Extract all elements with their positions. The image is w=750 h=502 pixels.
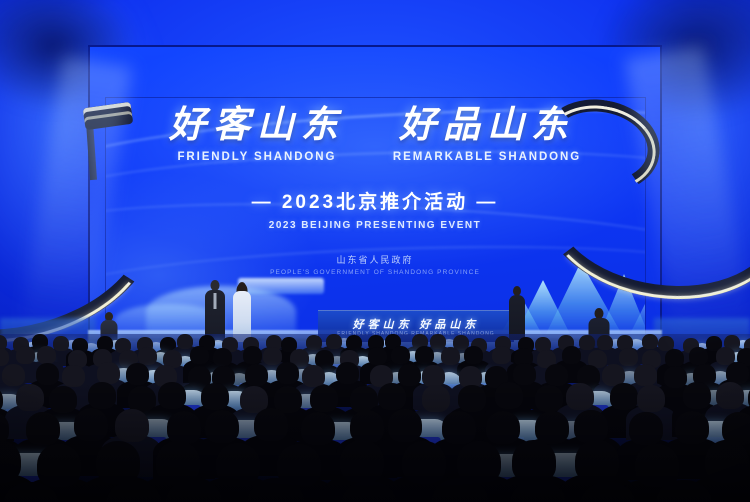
audience-member-head <box>422 365 445 387</box>
audience-member-head <box>346 335 362 350</box>
audience-member-head <box>368 347 387 365</box>
audience-member-head <box>492 346 511 364</box>
audience-member-head <box>306 335 322 350</box>
audience-member-head <box>562 346 581 364</box>
audience-member-head <box>205 410 239 443</box>
audience-member-head <box>2 364 25 386</box>
podium-text-cn: 好客山东 好品山东 <box>318 316 514 332</box>
audience-member-head <box>579 335 595 350</box>
event-subtitle-cn: — 2023北京推介活动 — <box>90 187 660 214</box>
led-screen: 好客山东 FRIENDLY SHANDONG 好品山东 REMARKABLE S… <box>88 45 662 341</box>
audience-member-head <box>16 346 35 364</box>
title-right-en: REMARKABLE SHANDONG <box>393 151 581 163</box>
audience-member-head <box>115 409 149 442</box>
audience-member-head <box>62 365 85 387</box>
audience-member-head <box>350 410 384 443</box>
audience-member-head <box>37 444 81 487</box>
title-left-en: FRIENDLY SHANDONG <box>178 151 337 163</box>
audience-member-head <box>378 383 406 410</box>
audience-member-head <box>610 383 638 410</box>
audience-member-head <box>16 384 44 411</box>
audience-member-head <box>422 385 450 412</box>
audience-member-head <box>336 362 359 384</box>
led-screen-copy: 好客山东 FRIENDLY SHANDONG 好品山东 REMARKABLE S… <box>90 107 660 276</box>
audience-member-head <box>574 410 608 443</box>
audience-member-head <box>513 363 536 385</box>
audience-member-head <box>177 334 193 349</box>
audience-member-head <box>37 346 56 364</box>
title-left-cn: 好客山东 <box>169 107 345 146</box>
audience-member-head <box>442 411 476 444</box>
audience-member-head <box>430 334 446 349</box>
audience-member-head <box>301 412 335 445</box>
audience-member-head <box>535 411 569 444</box>
audience-member-head <box>126 363 149 385</box>
audience-member-head <box>213 348 232 366</box>
audience-member-head <box>201 383 229 410</box>
audience-member-head <box>53 336 69 351</box>
audience-member-head <box>190 346 209 364</box>
audience-member-head <box>402 441 446 484</box>
audience-member-head <box>566 383 594 410</box>
audience-member-head <box>512 440 556 483</box>
shirt <box>214 293 217 309</box>
person-host-female <box>232 282 252 342</box>
audience-member-head <box>36 363 59 385</box>
audience-member-head <box>683 382 711 409</box>
audience-member-head <box>96 441 140 484</box>
audience-member-head <box>243 346 262 364</box>
audience-member-head <box>458 385 486 412</box>
audience-member-head <box>326 334 342 349</box>
title-block-left: 好客山东 FRIENDLY SHANDONG <box>169 107 345 163</box>
audience-member-head <box>464 346 483 364</box>
title-row: 好客山东 FRIENDLY SHANDONG 好品山东 REMARKABLE S… <box>90 107 660 163</box>
audience-member-head <box>138 347 157 365</box>
person-host-male <box>204 280 226 342</box>
audience-member-head <box>88 382 116 409</box>
audience-member-head <box>302 365 325 387</box>
audience-member-head <box>254 408 288 441</box>
audience-member-head <box>629 412 663 445</box>
audience-member-head <box>637 385 665 412</box>
audience-member-head <box>74 408 108 441</box>
audience-member-head <box>340 440 384 483</box>
audience-member-head <box>415 346 434 364</box>
organizer-en: PEOPLE'S GOVERNMENT OF SHANDONG PROVINCE <box>90 269 660 276</box>
title-right-cn: 好品山东 <box>399 107 575 146</box>
audience-member-head <box>158 382 186 409</box>
audience-member-head <box>664 366 687 388</box>
organizer-cn: 山东省人民政府 <box>90 253 660 266</box>
title-block-right: 好品山东 REMARKABLE SHANDONG <box>393 107 581 163</box>
audience-member-head <box>575 440 619 483</box>
audience-member-head <box>391 346 410 364</box>
audience-member-head <box>665 349 684 367</box>
audience <box>0 334 750 502</box>
audience-member-head <box>619 348 638 366</box>
audience-member-head <box>689 347 708 365</box>
audience-member-head <box>486 411 520 444</box>
audience-member-head <box>156 441 200 484</box>
audience-member-head <box>597 335 613 350</box>
audience-member-head <box>167 411 201 444</box>
person-speaker <box>508 286 526 340</box>
audience-member-head <box>263 347 282 365</box>
audience-member-head <box>245 364 268 386</box>
stage-photo: 好客山东 FRIENDLY SHANDONG 好品山东 REMARKABLE S… <box>0 0 750 502</box>
audience-member-head <box>49 386 77 413</box>
audience-member-head <box>634 364 657 386</box>
audience-member-head <box>705 440 749 483</box>
audience-member-head <box>388 409 422 442</box>
event-subtitle-en: 2023 BEIJING PRESENTING EVENT <box>90 220 660 231</box>
audience-member-head <box>726 362 749 384</box>
audience-member-head <box>97 362 120 384</box>
audience-member-head <box>545 364 568 386</box>
audience-member-head <box>495 382 523 409</box>
audience-member-head <box>310 385 338 412</box>
audience-member-head <box>716 382 744 409</box>
audience-member-head <box>276 362 299 384</box>
audience-member-head <box>675 411 709 444</box>
audience-member-head <box>642 334 658 349</box>
audience-member-head <box>398 364 421 386</box>
audience-member-head <box>441 347 460 365</box>
audience-member-head <box>26 412 60 445</box>
audience-member-head <box>216 443 260 486</box>
